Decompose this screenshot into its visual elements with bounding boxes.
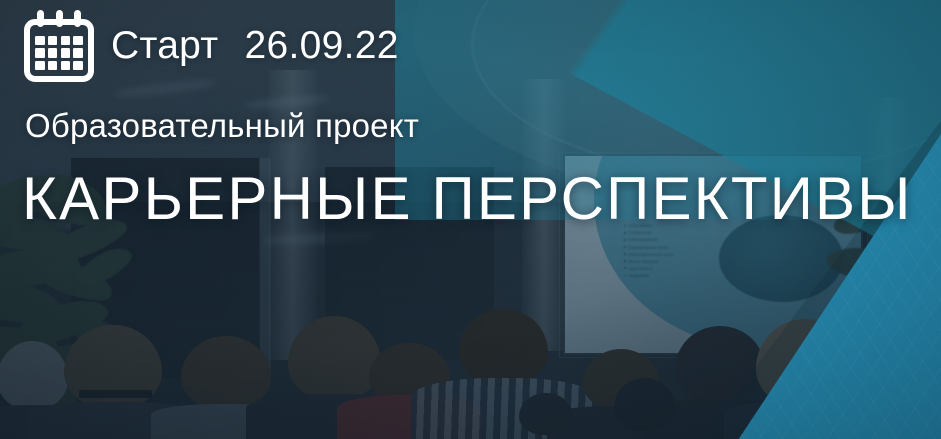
banner-content: Старт 26.09.22 Образовательный проект КА… (0, 0, 941, 439)
career-prospects-banner: Сбор заявок Отборочное собеседование Фор… (0, 0, 941, 439)
start-date-value: 26.09.22 (244, 24, 398, 68)
calendar-grid (35, 36, 83, 70)
start-date-text: Старт 26.09.22 (111, 24, 399, 68)
start-label: Старт (111, 24, 218, 68)
project-subtitle: Образовательный проект (25, 107, 419, 145)
start-date-row: Старт 26.09.22 (24, 10, 399, 82)
page-title: КАРЬЕРНЫЕ ПЕРСПЕКТИВЫ (22, 164, 913, 233)
calendar-icon (24, 10, 94, 82)
